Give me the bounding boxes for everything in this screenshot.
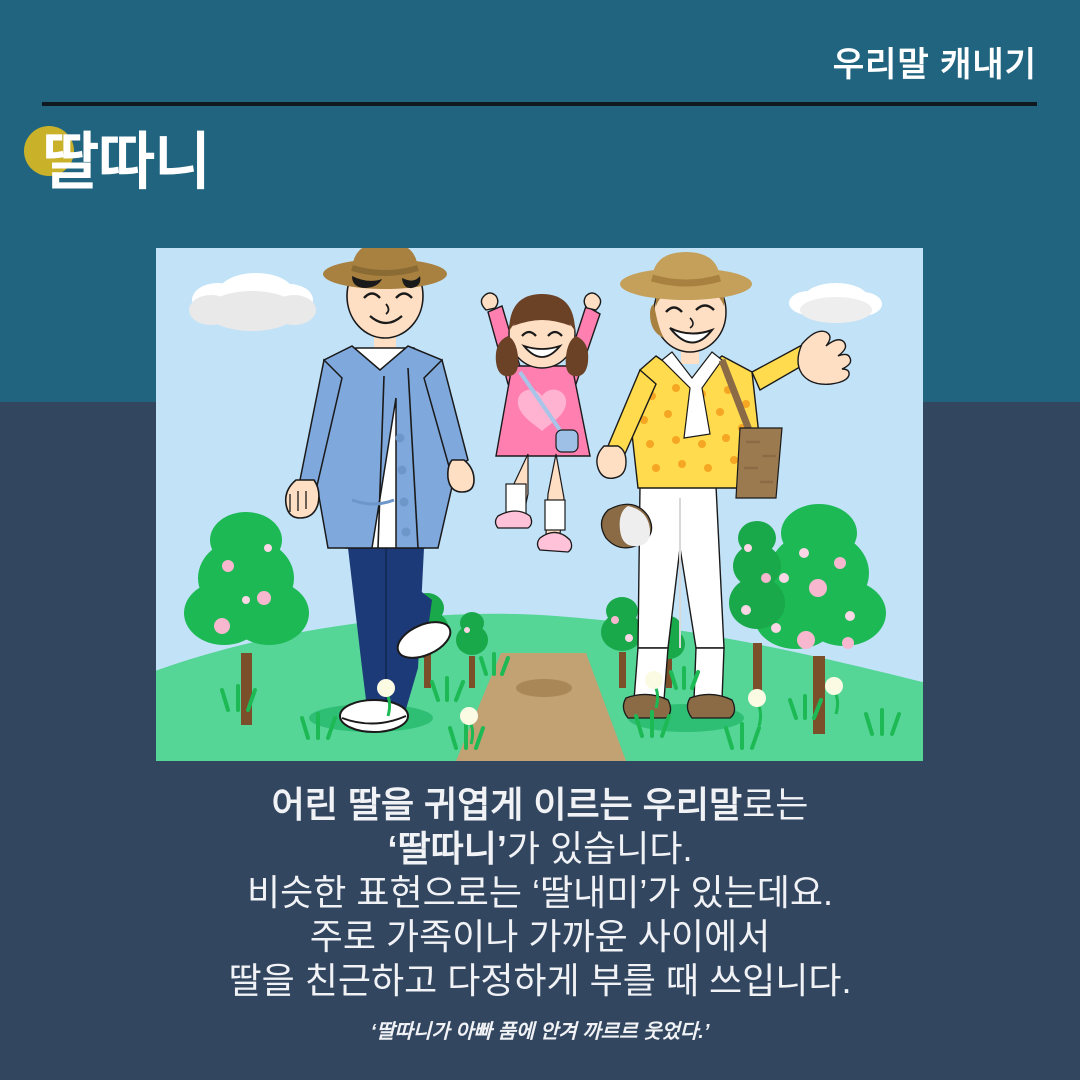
explanation-line-2-bold: ‘딸따니’	[388, 828, 507, 869]
explanation-text: 어린 딸을 귀엽게 이르는 우리말로는 ‘딸따니’가 있습니다. 비슷한 표현으…	[0, 783, 1080, 1003]
series-kicker: 우리말 캐내기	[833, 48, 1037, 82]
explanation-line-5-plain: 딸을 친근하고 다정하게 부를 때 쓰입니다.	[228, 960, 851, 1001]
explanation-line-2: ‘딸따니’가 있습니다.	[0, 827, 1080, 871]
explanation-line-4-plain: 주로 가족이나 가까운 사이에서	[310, 916, 771, 957]
header-divider	[42, 102, 1037, 106]
illustration-family-walking	[156, 248, 923, 761]
explanation-line-5: 딸을 친근하고 다정하게 부를 때 쓰입니다.	[0, 959, 1080, 1003]
title-word: 딸따니	[42, 132, 210, 194]
explanation-line-1-plain: 로는	[742, 784, 808, 825]
explanation-line-4: 주로 가족이나 가까운 사이에서	[0, 915, 1080, 959]
explanation-line-1-bold: 어린 딸을 귀엽게 이르는 우리말	[272, 784, 743, 825]
explanation-line-3: 비슷한 표현으로는 ‘딸내미’가 있는데요.	[0, 871, 1080, 915]
explanation-line-2-plain: 가 있습니다.	[507, 828, 693, 869]
example-sentence: ‘딸따니가 아빠 품에 안겨 까르르 웃었다.’	[0, 1022, 1080, 1042]
explanation-line-1: 어린 딸을 귀엽게 이르는 우리말로는	[0, 783, 1080, 827]
explanation-line-3-plain: 비슷한 표현으로는 ‘딸내미’가 있는데요.	[247, 872, 833, 913]
infographic-card: 우리말 캐내기 딸따니	[0, 0, 1080, 1080]
